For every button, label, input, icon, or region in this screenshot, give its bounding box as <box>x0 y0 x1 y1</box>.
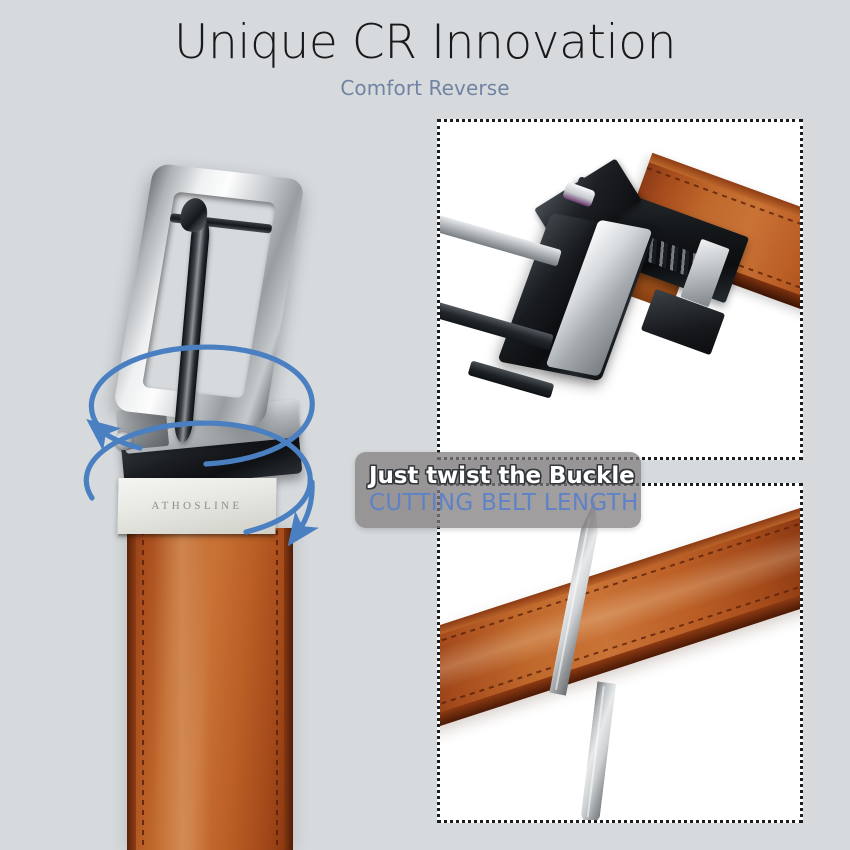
page-title: Unique CR Innovation <box>0 0 850 69</box>
callout-secondary-text: CUTTING BELT LENGTH <box>369 488 641 517</box>
strap-right-edge <box>284 528 293 850</box>
header: Unique CR Innovation Comfort Reverse <box>0 0 850 100</box>
strap-stitch-right <box>276 530 278 850</box>
strap-highlight <box>153 528 211 850</box>
hero-belt-strap <box>127 528 293 850</box>
product-infographic: Unique CR Innovation Comfort Reverse <box>0 0 850 850</box>
rotation-arrows-group <box>40 250 360 570</box>
strap-stitch-left <box>142 530 144 850</box>
callout-banner: Just twist the Buckle CUTTING BELT LENGT… <box>355 452 641 528</box>
lower-blade-hairline <box>587 686 605 817</box>
cutting-belt-strap <box>437 505 803 729</box>
belt-cutting-photo <box>437 483 803 823</box>
strap-left-edge <box>127 528 136 850</box>
buckle-mechanism-photo <box>437 119 803 460</box>
scissors-lower-blade <box>579 681 616 823</box>
rotation-arrow-upper <box>91 347 312 464</box>
callout-primary-text: Just twist the Buckle <box>369 464 641 488</box>
page-subtitle: Comfort Reverse <box>0 69 850 100</box>
rotation-arrow-lower <box>86 423 310 532</box>
